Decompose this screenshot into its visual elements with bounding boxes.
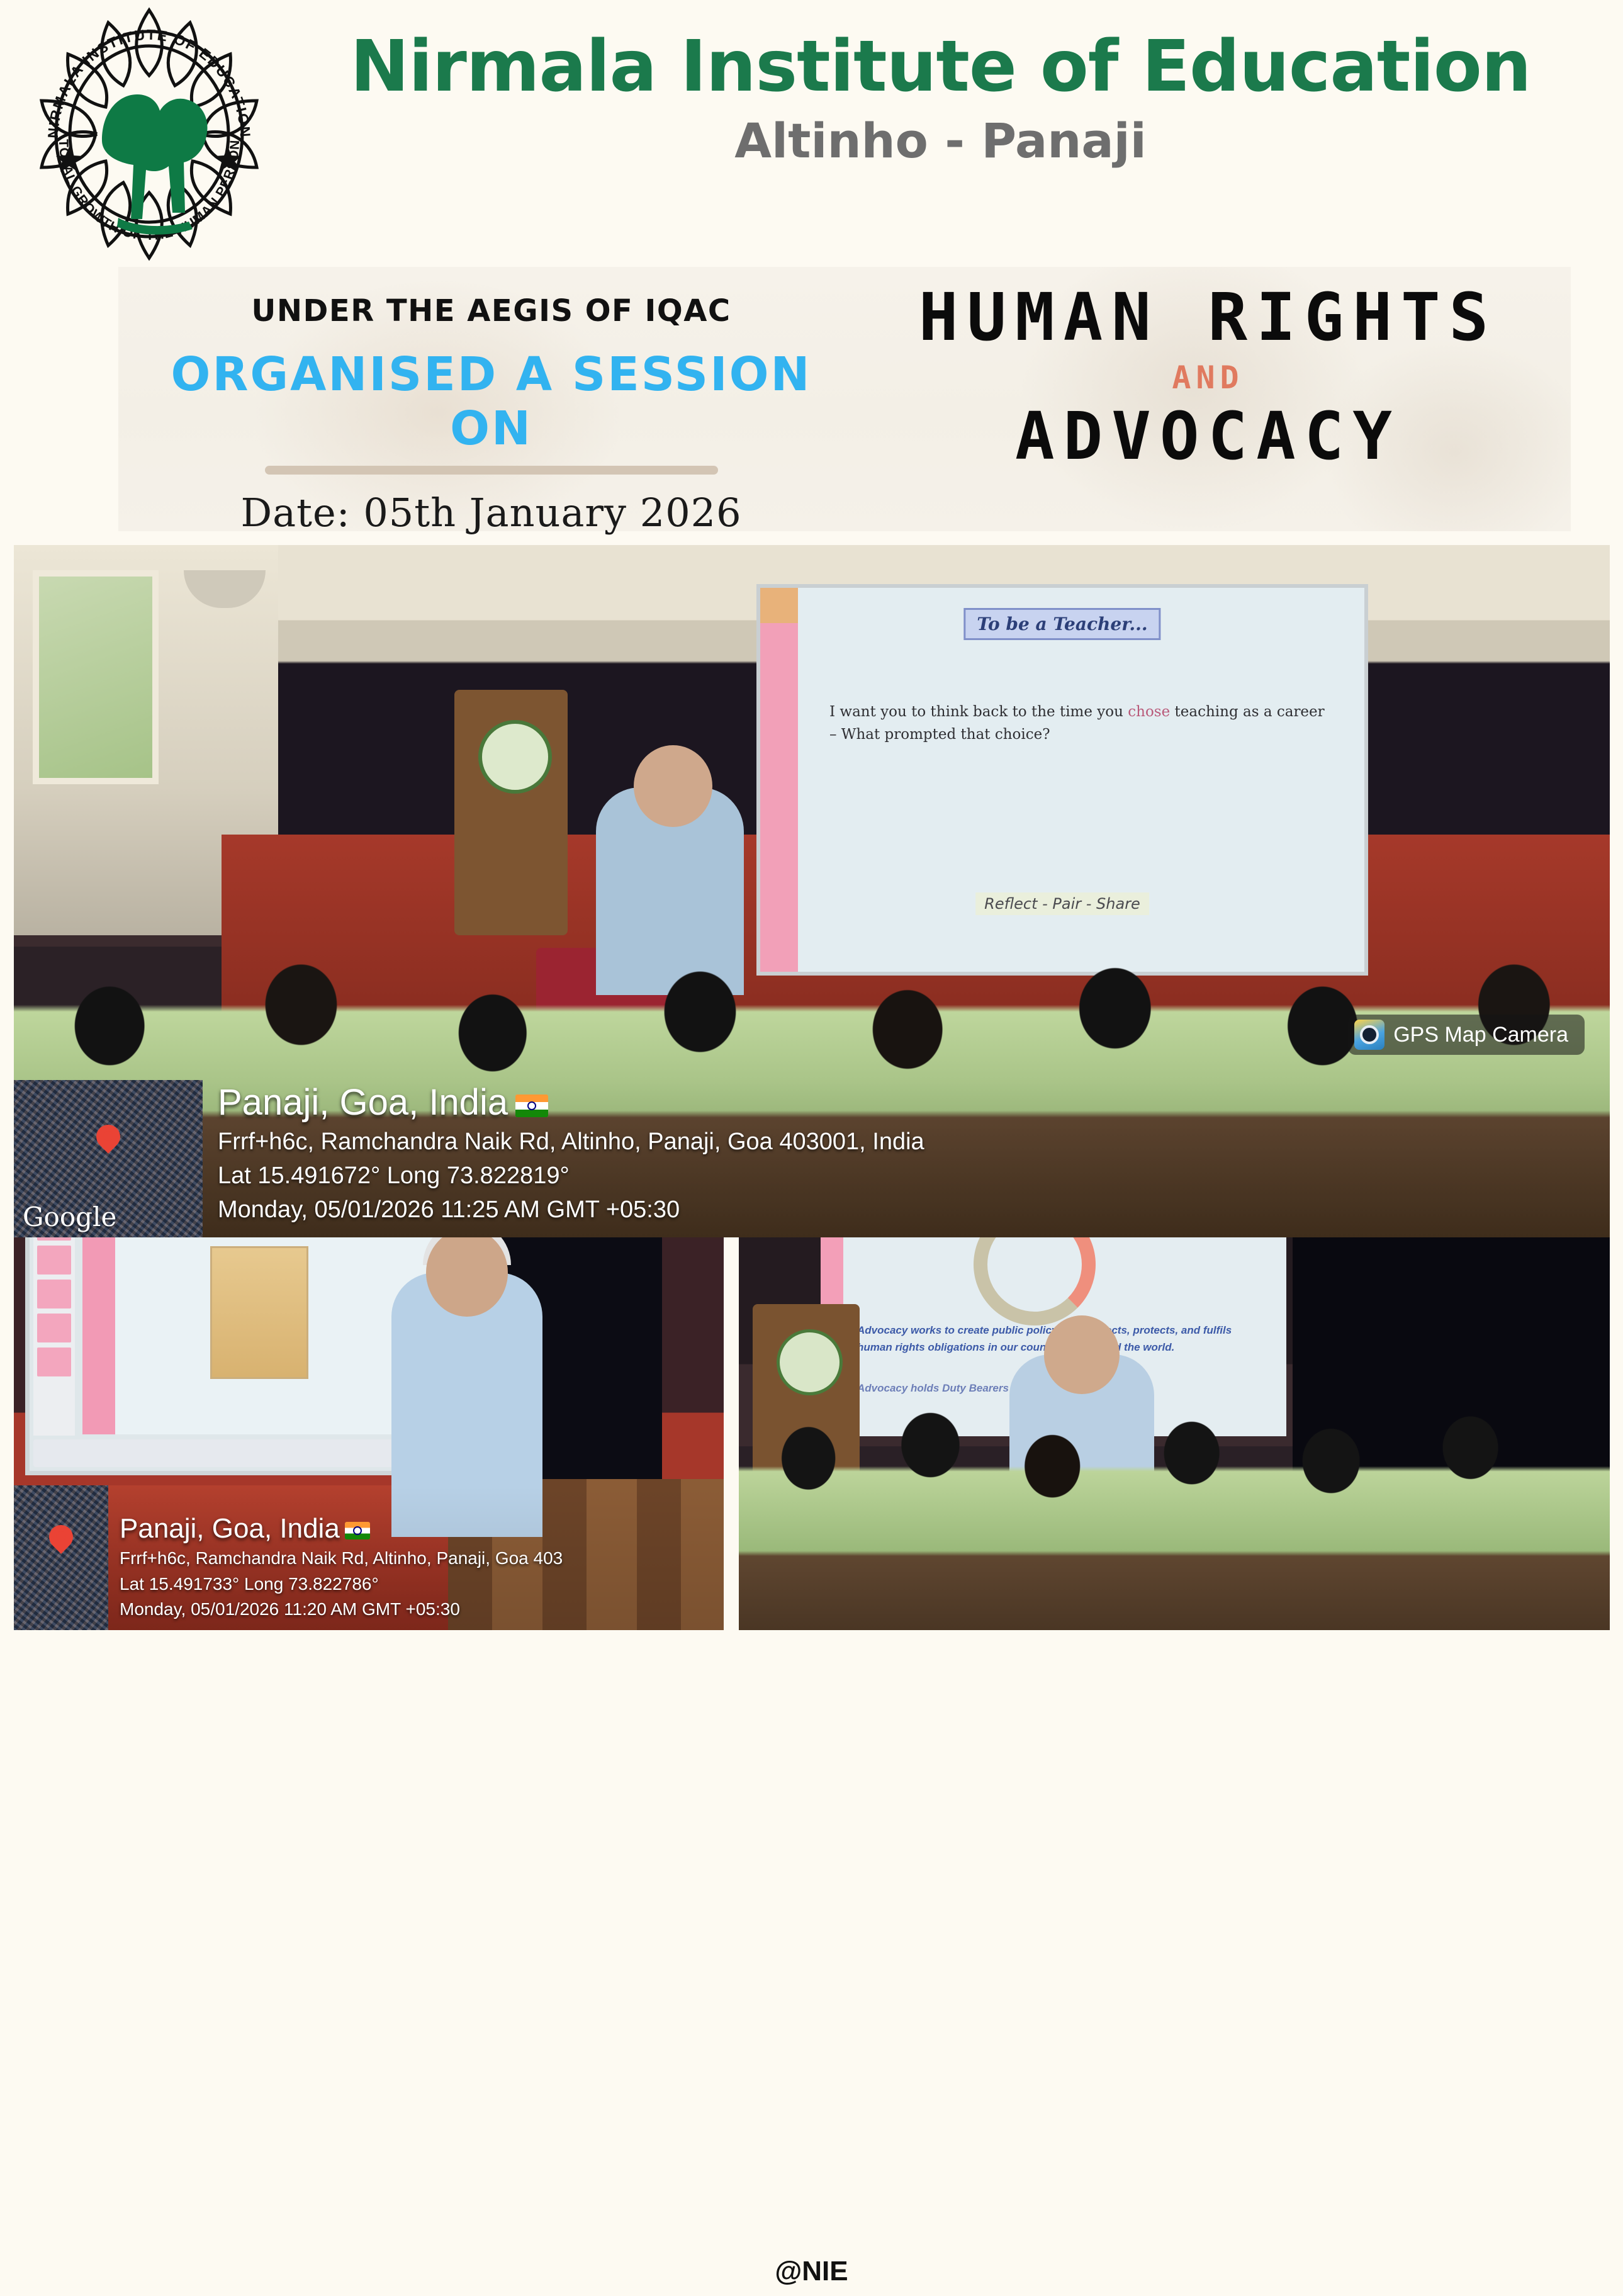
- slide-question-part-a: I want you to think back to the time you: [829, 704, 1128, 720]
- gps-map-camera-label: GPS Map Camera: [1393, 1023, 1568, 1047]
- divider: [265, 466, 718, 475]
- institute-location: Altinho - Panaji: [296, 116, 1585, 166]
- page-footer: @NIE: [0, 2247, 1623, 2296]
- photo-grid: NIRMALA INSTITUTE OF EDUCATION Human Rig…: [14, 545, 1610, 1663]
- page-header: NIRMALA INSTITUTE OF EDUCATION TOTAL GRO…: [0, 0, 1623, 252]
- podium-seal-icon-main: [478, 720, 552, 794]
- photo-main-hall-session: To be a Teacher... I want you to think b…: [14, 545, 1610, 1237]
- topic-title-line1: HUMAN RIGHTS: [845, 281, 1571, 354]
- topic-title-and: AND: [845, 357, 1571, 398]
- session-date: Date: 05th January 2026: [137, 490, 845, 536]
- slide-title-to-be-a-teacher: To be a Teacher...: [963, 608, 1160, 640]
- camera-icon: [1354, 1020, 1384, 1050]
- banner-left-column: UNDER THE AEGIS OF IQAC ORGANISED A SESS…: [118, 267, 845, 531]
- footer-handle: @NIE: [775, 2256, 848, 2287]
- session-banner: UNDER THE AEGIS OF IQAC ORGANISED A SESS…: [118, 267, 1571, 531]
- gps-map-camera-badge: GPS Map Camera: [1348, 1015, 1585, 1055]
- slide-question-highlight: chose: [1128, 704, 1170, 720]
- topic-title-line2: ADVOCACY: [845, 400, 1571, 473]
- slide-question: I want you to think back to the time you…: [829, 701, 1327, 746]
- banner-right-column: HUMAN RIGHTS AND ADVOCACY: [845, 267, 1571, 531]
- organised-label: ORGANISED A SESSION ON: [137, 347, 845, 456]
- page-title: Nirmala Institute of Education: [296, 30, 1585, 104]
- aegis-label: UNDER THE AEGIS OF IQAC: [137, 293, 845, 329]
- institute-logo: NIRMALA INSTITUTE OF EDUCATION TOTAL GRO…: [8, 5, 291, 263]
